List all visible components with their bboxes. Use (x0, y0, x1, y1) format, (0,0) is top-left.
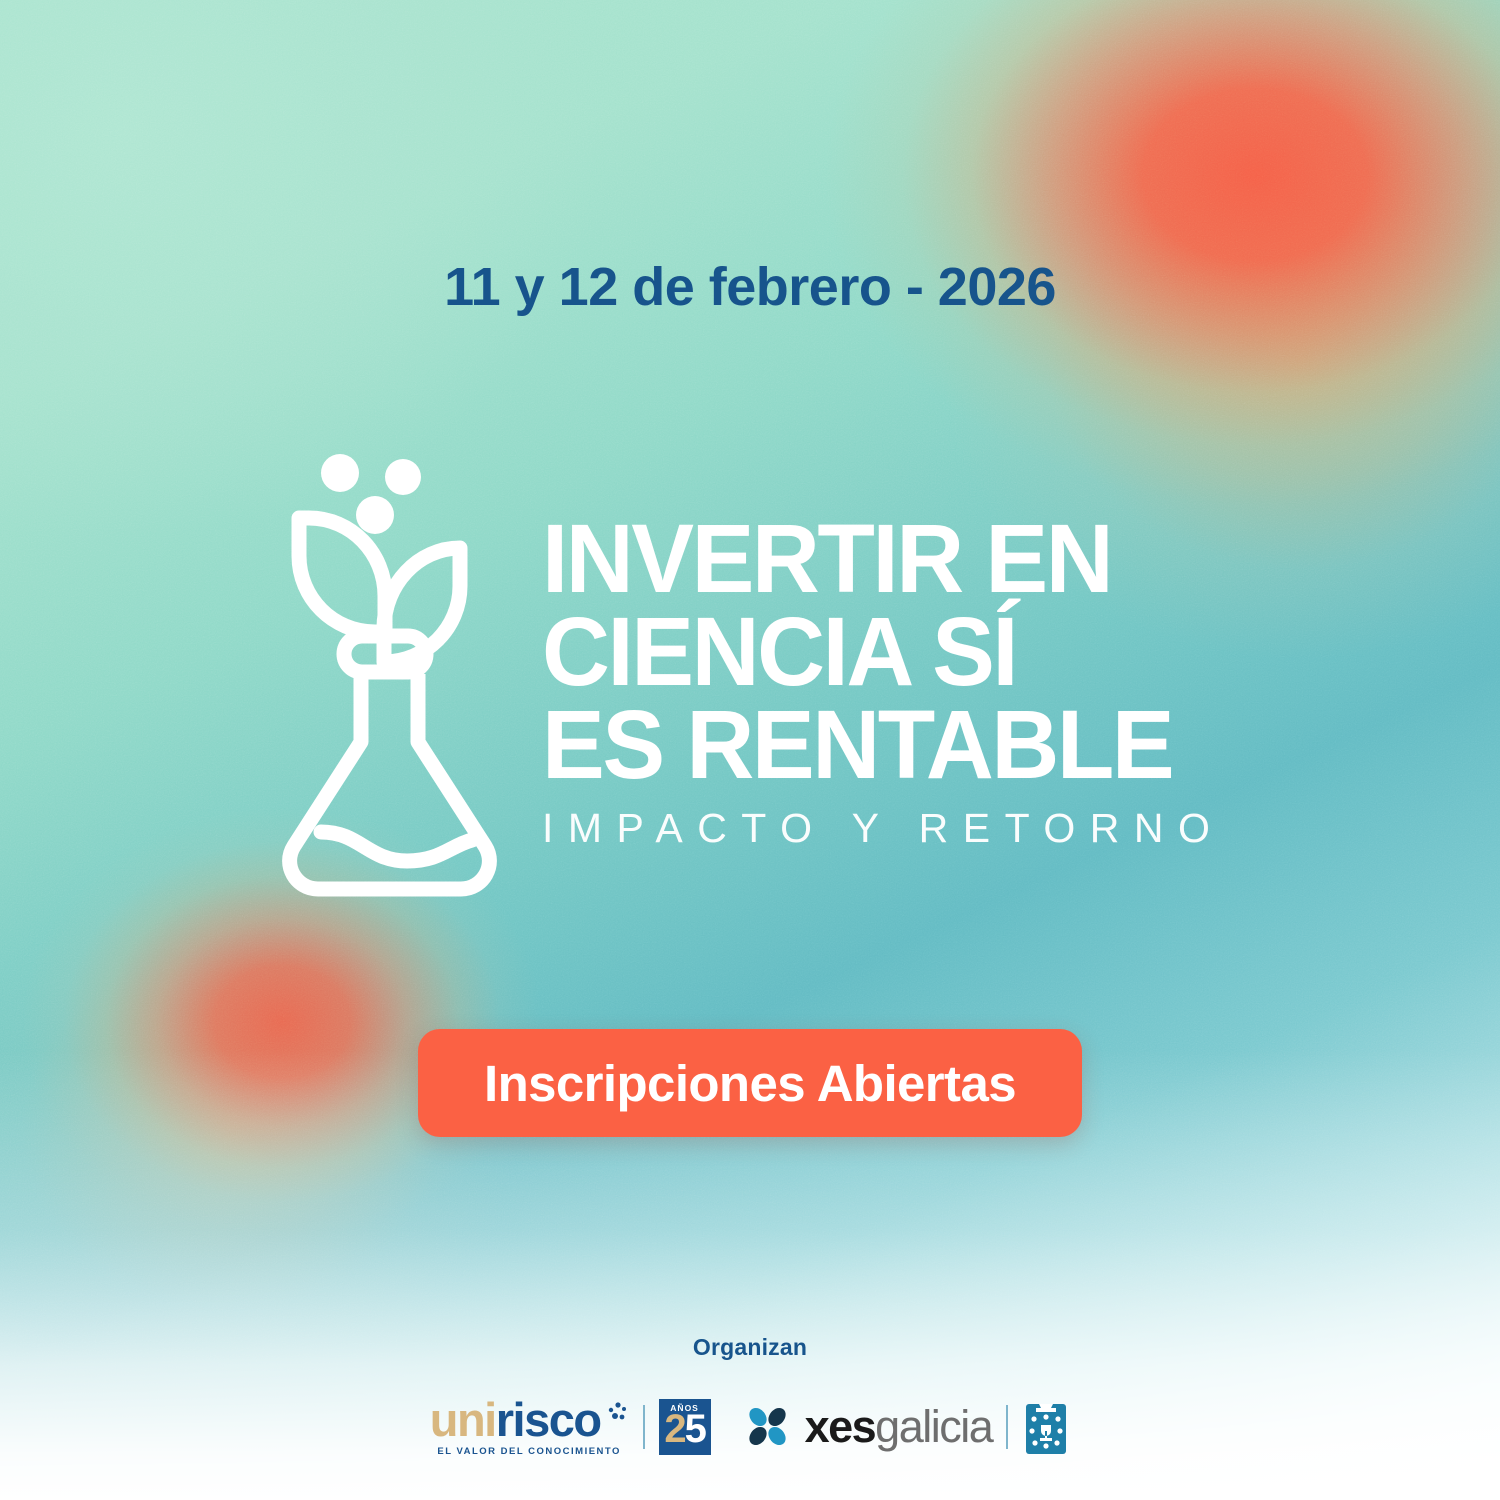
headline-line-3: ES RENTABLE (542, 698, 1231, 791)
inscriptions-open-button[interactable]: Inscripciones Abiertas (418, 1029, 1082, 1137)
xesgalicia-word-xes: xes (805, 1404, 876, 1449)
unirisco-wordmark: uni risco EL VALOR DEL CONOCIMIENTO (430, 1396, 629, 1457)
organizer-logos: uni risco EL VALOR DEL CONOCIMIENTO AÑOS (0, 1396, 1500, 1457)
headline-line-2: CIENCIA SÍ (542, 605, 1231, 698)
anniversary-digit-5: 5 (685, 1413, 705, 1446)
unirisco-word-uni: uni (430, 1396, 496, 1443)
pinwheel-icon (745, 1404, 791, 1450)
promo-poster: 11 y 12 de febrero - 2026 (0, 0, 1500, 1500)
unirisco-logo[interactable]: uni risco EL VALOR DEL CONOCIMIENTO AÑOS (430, 1396, 711, 1457)
galicia-crest-icon (1022, 1398, 1070, 1456)
headline-group: INVERTIR EN CIENCIA SÍ ES RENTABLE IMPAC… (542, 512, 1252, 852)
xesgalicia-word: xes galicia (805, 1404, 993, 1449)
logo-divider (1006, 1405, 1008, 1449)
unirisco-tagline: EL VALOR DEL CONOCIMIENTO (437, 1446, 621, 1457)
anniversary-badge-25: AÑOS 2 5 (659, 1399, 711, 1455)
unirisco-word-risco: risco (496, 1396, 601, 1443)
xesgalicia-logo[interactable]: xes galicia (745, 1398, 1071, 1456)
organizers-label: Organizan (0, 1334, 1500, 1361)
xesgalicia-word-galicia: galicia (875, 1404, 992, 1449)
unirisco-word: uni risco (430, 1396, 629, 1443)
headline-subtitle: IMPACTO Y RETORNO (542, 805, 1252, 852)
logo-divider (643, 1405, 645, 1449)
flask-sprout-icon (272, 446, 522, 906)
event-date: 11 y 12 de febrero - 2026 (0, 256, 1500, 318)
headline-line-1: INVERTIR EN (542, 512, 1231, 605)
unirisco-dots-icon (603, 1396, 629, 1436)
anniversary-number: 2 5 (664, 1413, 705, 1446)
hero-block: INVERTIR EN CIENCIA SÍ ES RENTABLE IMPAC… (272, 436, 1252, 906)
anniversary-digit-2: 2 (664, 1413, 684, 1446)
